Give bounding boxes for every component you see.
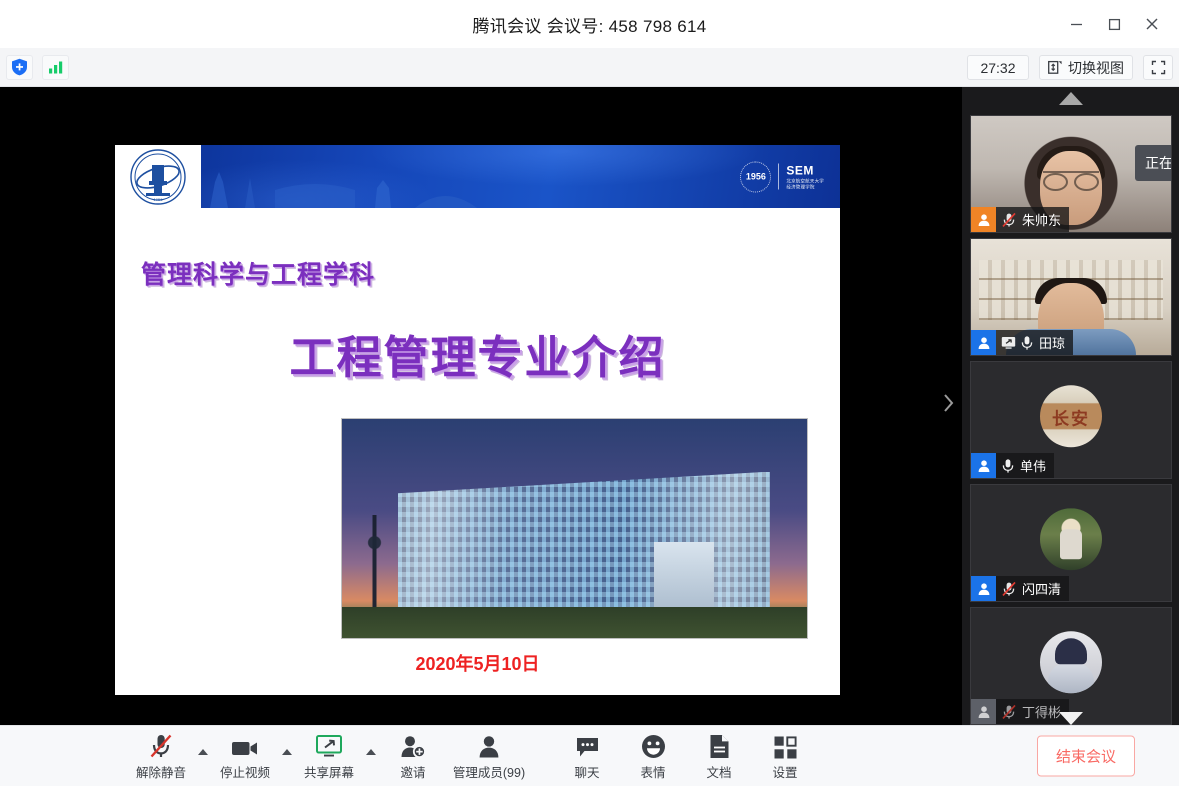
meeting-timer: 27:32 [967, 55, 1029, 80]
collapse-panel-chevron[interactable] [942, 392, 956, 420]
participant-avatar-badge [971, 576, 996, 601]
participant-name: 田琼 [1039, 333, 1073, 352]
document-icon [709, 733, 730, 759]
person-icon [977, 336, 991, 350]
participant-status-icons [996, 335, 1039, 351]
sem-abbr: SEM [786, 163, 824, 178]
members-icon [477, 733, 501, 759]
window-titlebar: 腾讯会议 会议号: 458 798 614 [0, 0, 1179, 48]
meeting-subtoolbar: 27:32 切换视图 [0, 48, 1179, 87]
network-signal-button[interactable] [42, 55, 69, 80]
toolbar-label: 文档 [706, 762, 731, 781]
participant-avatar-badge [971, 330, 996, 355]
speaking-tooltip: 正在 [1135, 145, 1172, 181]
sem-year-ring: 1956 [740, 161, 771, 192]
chevron-right-icon [942, 392, 956, 414]
avatar-text: 长安 [1052, 404, 1090, 429]
sem-divider [778, 164, 779, 190]
switch-view-icon [1048, 60, 1063, 75]
university-logo: 1956 [115, 145, 201, 208]
shield-plus-icon [11, 58, 28, 76]
participant-avatar-badge [971, 207, 996, 232]
participant-avatar-badge [971, 453, 996, 478]
toolbar-label: 共享屏幕 [304, 762, 354, 781]
switch-view-label: 切换视图 [1068, 58, 1124, 78]
participant-status-icons [996, 458, 1020, 474]
participant-status-icons [996, 212, 1022, 228]
document-button[interactable]: 文档 [686, 728, 752, 786]
participant-name: 闪四清 [1022, 579, 1069, 598]
mic-muted-icon [1001, 581, 1017, 597]
lawn-shape [342, 607, 807, 638]
video-options-caret[interactable] [278, 728, 296, 786]
buaa-seal-icon: 1956 [128, 148, 188, 206]
slide-photo [341, 418, 808, 639]
participant-avatar-image [1040, 508, 1102, 570]
invite-button[interactable]: 邀请 [380, 728, 446, 786]
toolbar-label: 设置 [772, 762, 797, 781]
participant-infobar: 闪四清 [971, 576, 1069, 601]
glasses-icon [1043, 171, 1099, 186]
close-button[interactable] [1133, 7, 1171, 41]
stop-video-button[interactable]: 停止视频 [212, 728, 278, 786]
security-shield-button[interactable] [6, 55, 33, 80]
participant-infobar: 田琼 [971, 330, 1073, 355]
participant-avatar-image [1040, 631, 1102, 693]
person-icon [977, 213, 991, 227]
share-screen-icon [315, 733, 343, 759]
slide-subtitle: 管理科学与工程学科 [141, 255, 375, 291]
mic-icon [1020, 335, 1034, 351]
fullscreen-button[interactable] [1143, 55, 1173, 80]
emoji-icon [641, 733, 666, 759]
participant-avatar-image: 长安 [1040, 385, 1102, 447]
person-icon [977, 459, 991, 473]
banner-skyline-graphic [115, 145, 840, 208]
subtoolbar-left [0, 55, 69, 80]
sem-text-block: SEM 北京航空航天大学 经济管理学院 [786, 163, 824, 189]
toolbar-label: 邀请 [400, 762, 425, 781]
sem-logo: 1956 SEM 北京航空航天大学 经济管理学院 [740, 161, 824, 192]
participant-tile[interactable]: 田琼 [970, 238, 1172, 356]
mic-icon [1001, 458, 1015, 474]
building-archway [654, 542, 714, 608]
triangle-up-icon [1059, 92, 1083, 105]
minimize-button[interactable] [1057, 7, 1095, 41]
toolbar-label: 停止视频 [220, 762, 270, 781]
participant-tile[interactable]: 朱帅东 正在 [970, 115, 1172, 233]
caret-up-icon [366, 749, 376, 755]
window-controls [1057, 0, 1171, 48]
settings-grid-icon [774, 733, 797, 759]
caret-up-icon [198, 749, 208, 755]
slide-banner: 1956 1956 SEM 北京航空航天大学 经济管理学院 [115, 145, 840, 208]
caret-up-icon [282, 749, 292, 755]
slide-title: 工程管理专业介绍 [115, 321, 840, 386]
participant-panel: 朱帅东 正在 [962, 87, 1179, 725]
toolbar-label: 表情 [640, 762, 665, 781]
fullscreen-icon [1151, 60, 1166, 75]
participant-infobar: 单伟 [971, 453, 1054, 478]
skyline-icon [115, 164, 840, 208]
participant-name: 单伟 [1020, 456, 1054, 475]
participant-tile[interactable]: 长安 单伟 [970, 361, 1172, 479]
window-title: 腾讯会议 会议号: 458 798 614 [472, 12, 706, 37]
sem-cn-line2: 经济管理学院 [786, 184, 824, 190]
subtoolbar-right: 27:32 切换视图 [967, 48, 1173, 87]
svg-text:1956: 1956 [154, 197, 164, 202]
settings-button[interactable]: 设置 [752, 728, 818, 786]
mic-muted-icon [148, 733, 174, 759]
slide-date: 2020年5月10日 [115, 650, 840, 676]
share-screen-button[interactable]: 共享屏幕 [296, 728, 362, 786]
share-options-caret[interactable] [362, 728, 380, 786]
end-meeting-button[interactable]: 结束会议 [1037, 736, 1135, 777]
participant-infobar: 朱帅东 [971, 207, 1069, 232]
manage-members-button[interactable]: 管理成员(99) [446, 728, 532, 786]
share-screen-icon [1001, 336, 1016, 350]
invite-user-icon [400, 733, 426, 759]
tree-shape [356, 515, 393, 607]
emoji-button[interactable]: 表情 [620, 728, 686, 786]
participant-name: 朱帅东 [1022, 210, 1069, 229]
toolbar-buttons: 解除静音 停止视频 共享屏幕 [128, 726, 818, 787]
signal-bars-icon [48, 60, 64, 74]
shared-screen-stage: 1956 1956 SEM 北京航空航天大学 经济管理学院 管理科学与工程学科 … [0, 87, 962, 725]
unmute-button[interactable]: 解除静音 [128, 728, 194, 786]
presentation-slide: 1956 1956 SEM 北京航空航天大学 经济管理学院 管理科学与工程学科 … [115, 145, 840, 695]
participant-tile-list: 朱帅东 正在 [970, 115, 1172, 730]
meeting-toolbar: 解除静音 停止视频 共享屏幕 [0, 725, 1179, 786]
chat-button[interactable]: 聊天 [554, 728, 620, 786]
maximize-button[interactable] [1095, 7, 1133, 41]
person-icon [977, 582, 991, 596]
toolbar-label: 聊天 [574, 762, 599, 781]
triangle-down-icon [1059, 712, 1083, 725]
camera-icon [231, 733, 259, 759]
switch-view-button[interactable]: 切换视图 [1039, 55, 1133, 80]
chat-icon [575, 733, 600, 759]
participant-tile[interactable]: 闪四清 [970, 484, 1172, 602]
panel-scroll-up-button[interactable] [962, 87, 1179, 109]
toolbar-label: 管理成员(99) [453, 762, 525, 781]
mic-muted-icon [1001, 212, 1017, 228]
audio-options-caret[interactable] [194, 728, 212, 786]
participant-status-icons [996, 581, 1022, 597]
toolbar-label: 解除静音 [136, 762, 186, 781]
